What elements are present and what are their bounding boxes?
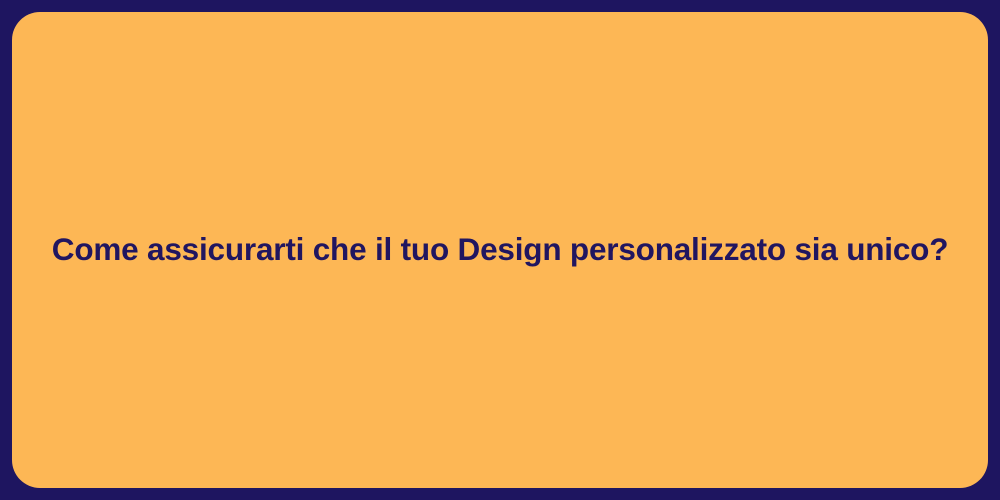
headline-card: Come assicurarti che il tuo Design perso… bbox=[12, 12, 988, 488]
page-title: Come assicurarti che il tuo Design perso… bbox=[52, 230, 948, 269]
card-frame: Come assicurarti che il tuo Design perso… bbox=[0, 0, 1000, 500]
card-content: Come assicurarti che il tuo Design perso… bbox=[12, 230, 988, 269]
